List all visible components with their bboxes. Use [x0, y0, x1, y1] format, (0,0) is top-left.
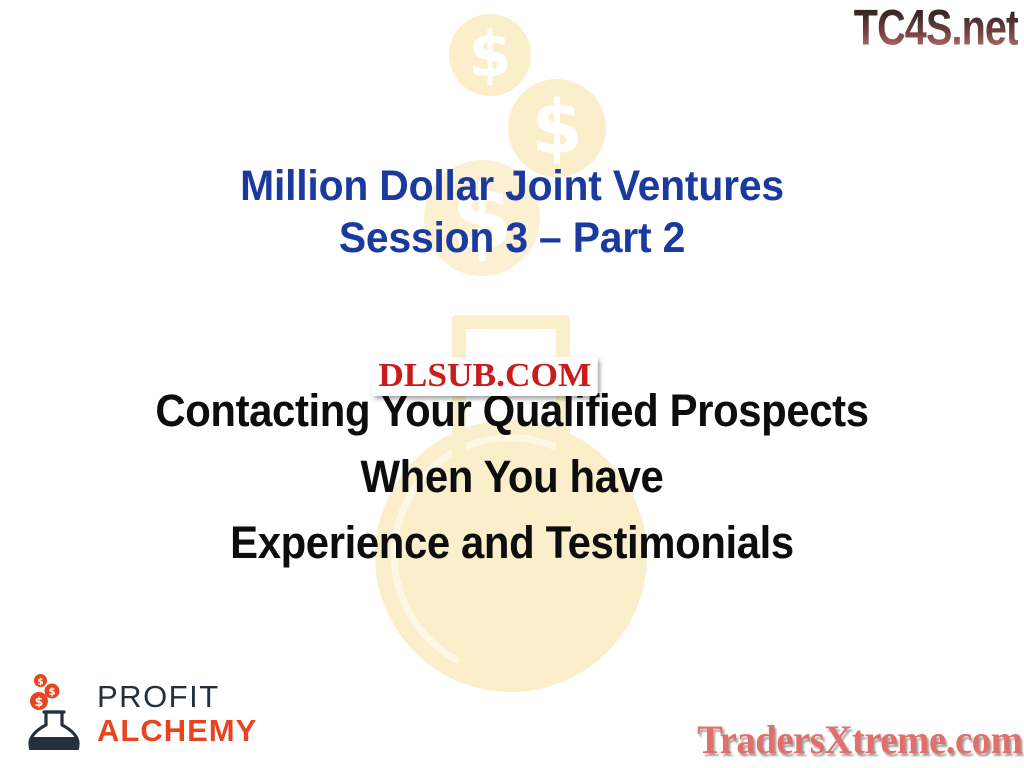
- logo-text-profit: PROFIT: [97, 681, 257, 712]
- watermark-tc4s: TC4S.net: [853, 0, 1018, 56]
- title-line-1: Million Dollar Joint Ventures: [26, 160, 999, 212]
- slide-canvas: $ $ $ Million Dollar Joint Ventures Sess…: [0, 0, 1024, 768]
- flask-icon: $ $ $: [26, 670, 88, 750]
- subtitle-line-2: When You have: [36, 444, 988, 510]
- watermark-tradersxtreme: TradersXtreme.com: [697, 718, 1022, 762]
- logo-text-alchemy: ALCHEMY: [97, 715, 257, 746]
- slide-title: Million Dollar Joint Ventures Session 3 …: [0, 160, 1024, 264]
- slide-subtitle: Contacting Your Qualified Prospects When…: [0, 378, 1024, 576]
- watermark-dlsub: DLSUB.COM: [372, 357, 598, 396]
- svg-text:$: $: [48, 686, 55, 698]
- svg-text:$: $: [35, 694, 44, 709]
- dollar-coin-icon: $: [449, 14, 531, 96]
- svg-text:$: $: [37, 677, 43, 687]
- subtitle-line-3: Experience and Testimonials: [36, 510, 988, 576]
- logo-wordmark: PROFIT ALCHEMY: [97, 681, 257, 750]
- profit-alchemy-logo: $ $ $ PROFIT ALCHEMY: [26, 670, 257, 750]
- title-line-2: Session 3 – Part 2: [26, 212, 999, 264]
